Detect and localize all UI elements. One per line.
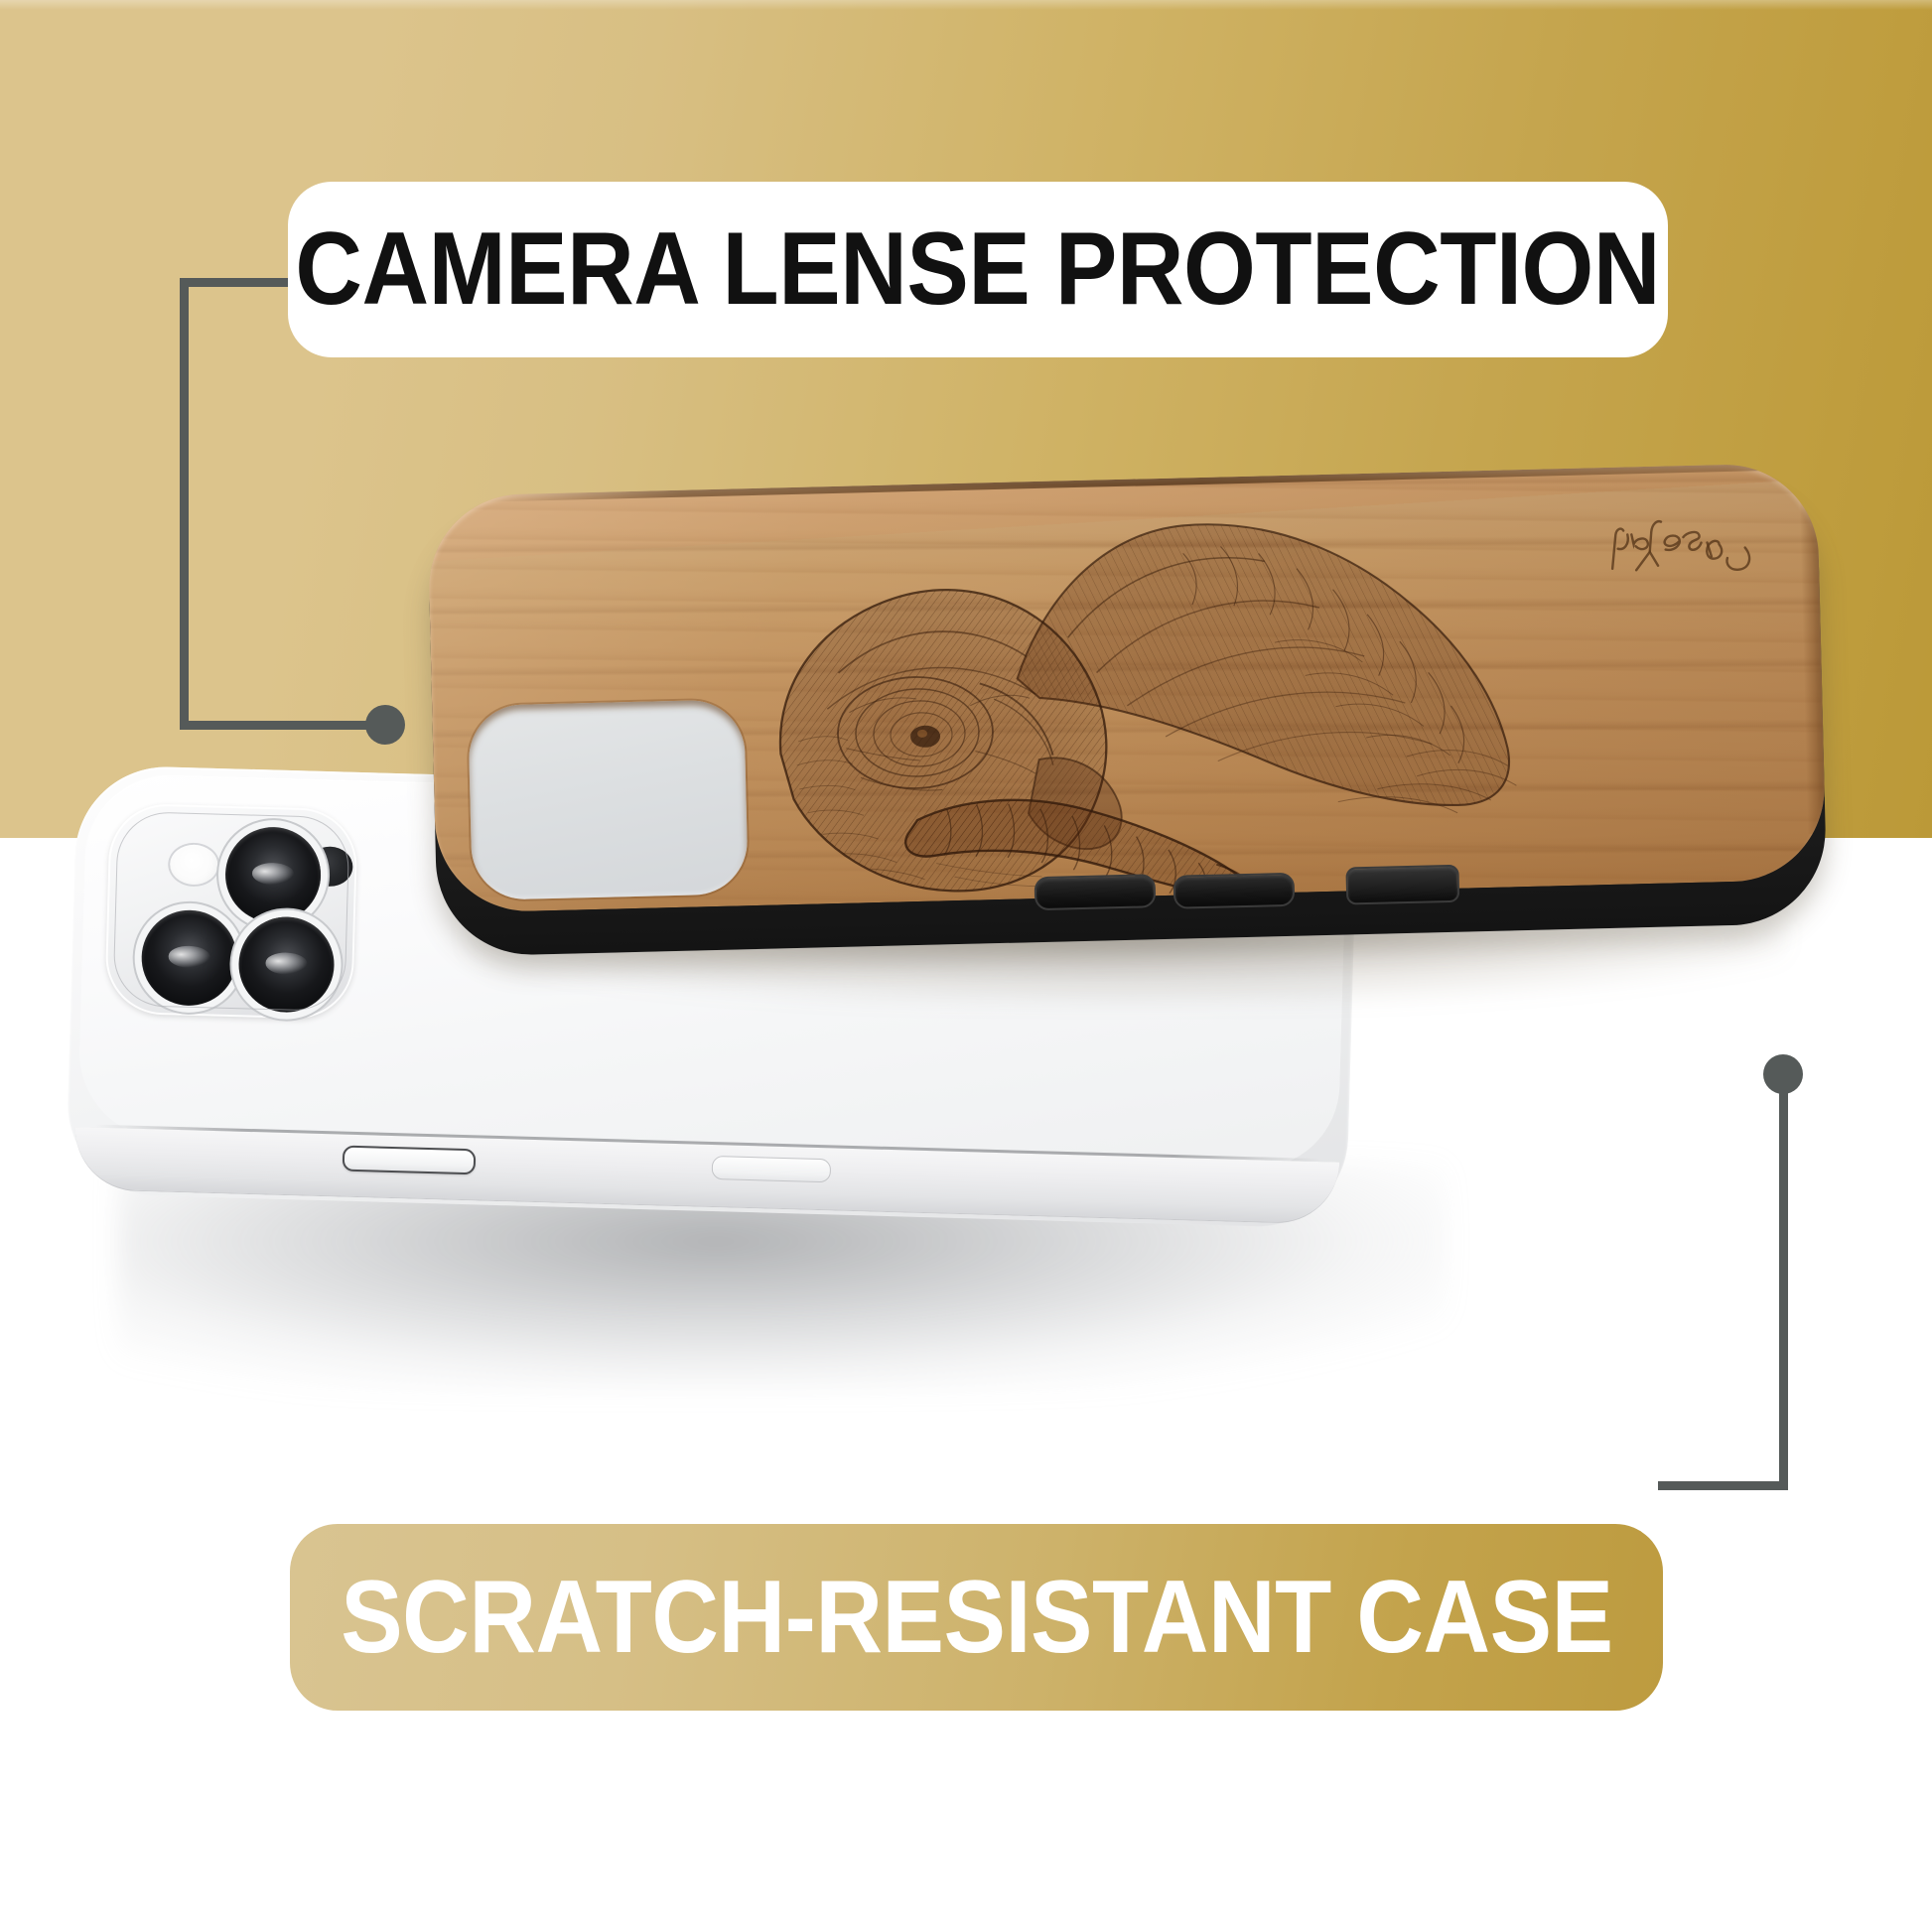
connector-dot-camera-cutout xyxy=(365,705,405,745)
ultra-wide-lens-icon xyxy=(140,909,238,1008)
volume-up-cutout xyxy=(1035,874,1157,910)
brand-signature-case-yard xyxy=(1602,483,1764,597)
camera-module xyxy=(104,803,358,1021)
volume-down-cutout xyxy=(1173,873,1296,909)
connector-line-right-vertical xyxy=(1779,1078,1788,1489)
wooden-phone-case xyxy=(427,463,1828,963)
camera-flash-icon xyxy=(170,844,218,885)
case-camera-cutout xyxy=(468,699,749,900)
connector-line-left-vertical xyxy=(180,278,189,730)
callout-camera-lense-protection[interactable]: CAMERA LENSE PROTECTION xyxy=(288,182,1668,357)
volume-button xyxy=(343,1146,477,1175)
callout-scratch-resistant-case[interactable]: SCRATCH-RESISTANT CASE xyxy=(290,1524,1663,1711)
product-marketing-image: CAMERA LENSE PROTECTION SCRATCH-RESISTAN… xyxy=(0,0,1932,1932)
wide-lens-icon xyxy=(224,826,323,924)
elephant-engraving xyxy=(715,487,1539,904)
mute-switch-cutout xyxy=(1345,865,1459,905)
connector-line-right-horizontal xyxy=(1658,1481,1788,1490)
power-button xyxy=(712,1156,832,1182)
callout-label-camera-lense-protection: CAMERA LENSE PROTECTION xyxy=(296,210,1661,329)
telephoto-lens-icon xyxy=(237,915,336,1014)
callout-label-scratch-resistant-case: SCRATCH-RESISTANT CASE xyxy=(341,1559,1612,1677)
connector-line-bottom-horizontal xyxy=(180,721,390,730)
lidar-sensor-icon xyxy=(307,846,353,887)
case-wood-back xyxy=(427,463,1827,913)
